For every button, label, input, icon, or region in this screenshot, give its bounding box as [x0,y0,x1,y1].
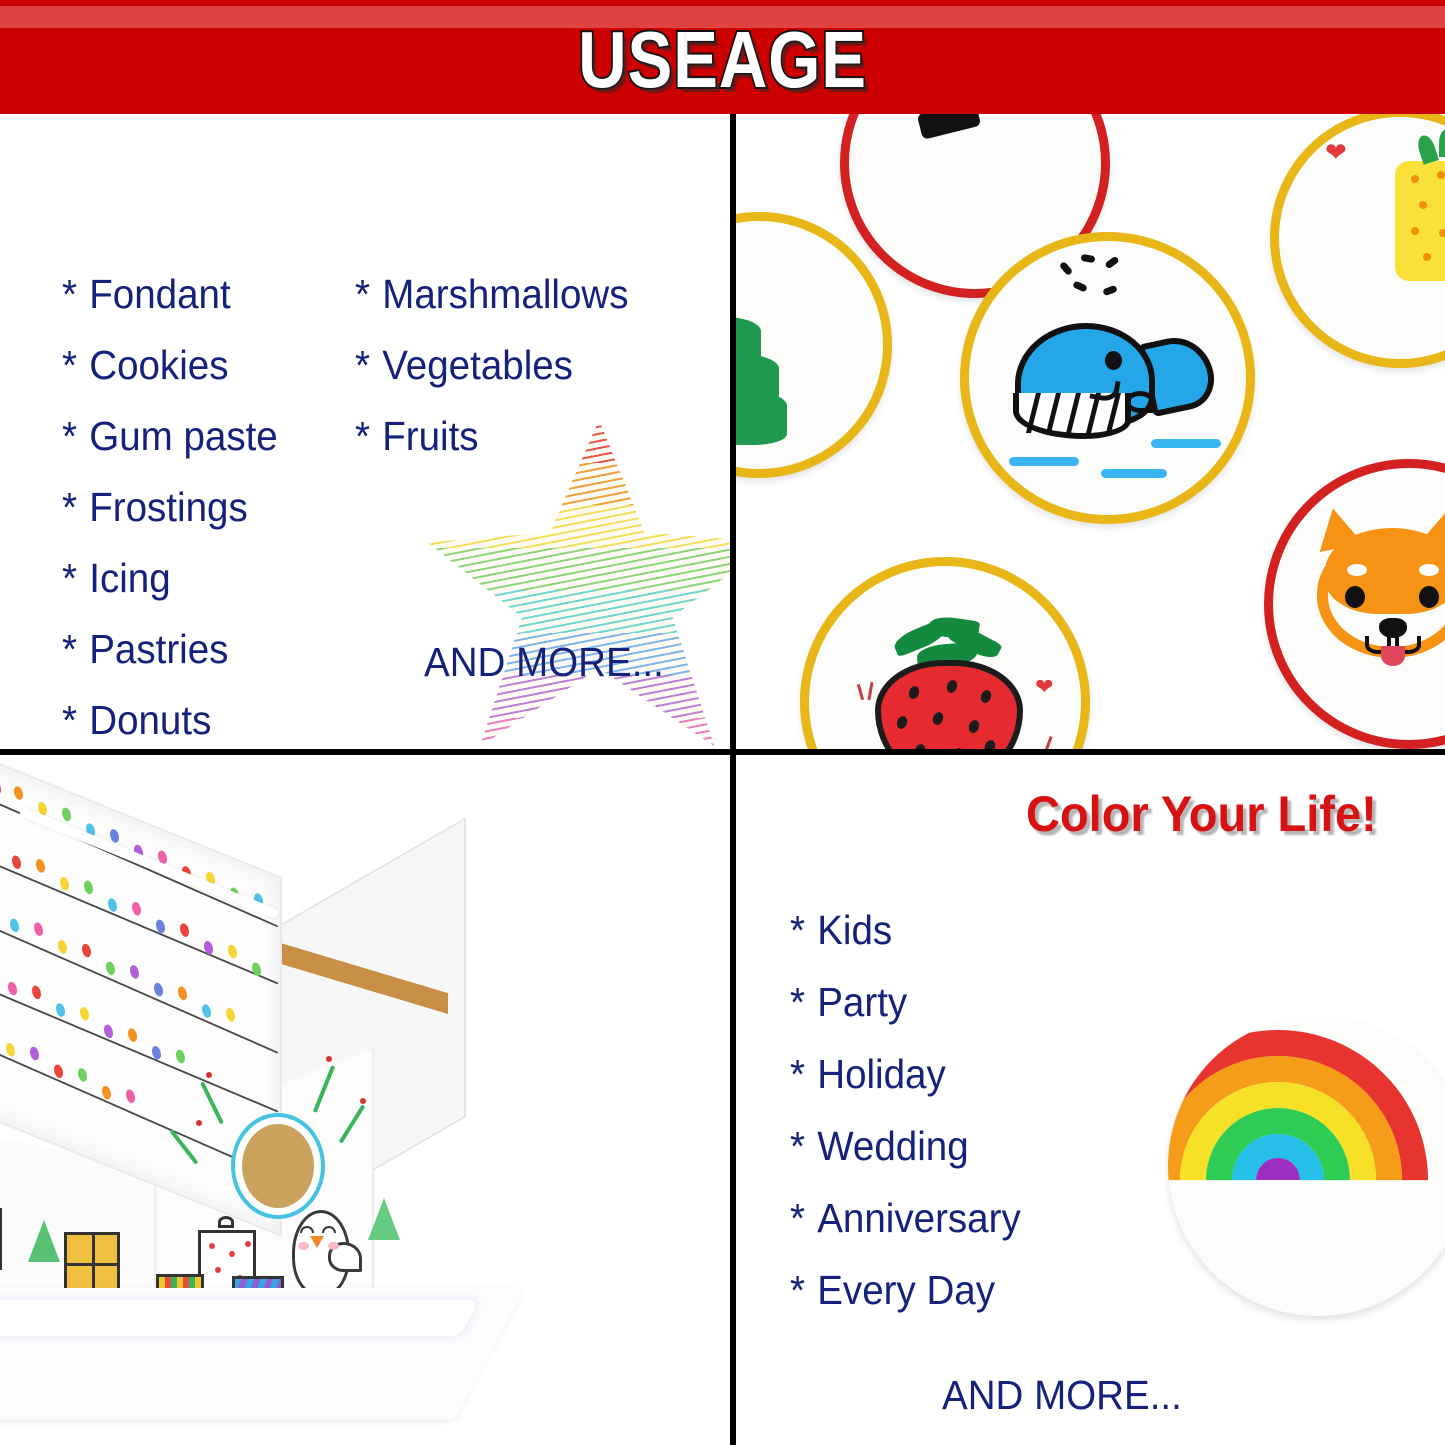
christmas-tree-cookie: ★ ★ ★ [736,212,892,478]
list-item: *Marshmallows [355,274,629,315]
list-item: *Donuts [62,700,278,741]
bullet-star-icon: * [355,271,370,317]
owl-eye-left [300,1226,314,1233]
list-item: *Holiday [790,1054,1021,1095]
dog-nose [1379,618,1407,638]
light-string-wire [0,920,278,1054]
strawberry-cookie: ❤ ❤ [800,557,1090,749]
bullet-star-icon: * [62,413,77,459]
and-more-text-life: AND MORE... [942,1372,1182,1419]
pineapple-leaf [1439,129,1445,157]
cookie-icing-surface: ❤ [1279,117,1445,359]
star-stripe-band [424,718,730,750]
list-item: *Icing [62,558,278,599]
water-wave [1151,439,1221,448]
window-left [0,1208,2,1270]
bullet-star-icon: * [790,907,805,953]
list-item: *Cookies [62,345,278,386]
bullet-star-icon: * [62,555,77,601]
bullet-star-icon: * [355,342,370,388]
product-infographic: USEAGE *Fondant *Cookies *Gum paste *Fro… [0,0,1445,1445]
partial-art-stroke [917,114,982,140]
pineapple-cookie: ❤ [1270,114,1445,368]
headline-color-your-life: Color Your Life! [1026,785,1377,843]
dog-tongue [1381,646,1405,666]
list-item: *Wedding [790,1126,1021,1167]
bullet-star-icon: * [62,626,77,672]
gingerbread-house-photo [0,780,590,1420]
water-wave [1101,469,1167,478]
panel-color-your-life: Color Your Life! *Kids *Party *Holiday *… [736,755,1445,1445]
shiba-dog-cookie: H [1264,459,1445,749]
cookie-icing-surface: H [1273,468,1445,740]
round-window [242,1124,314,1208]
mini-tree [368,1198,400,1240]
usage-list-column-1: *Fondant *Cookies *Gum paste *Frostings … [62,274,292,749]
bullet-star-icon: * [790,1195,805,1241]
owl-eye-right [322,1226,336,1233]
rainbow-cookie-photo [1168,1016,1445,1316]
pineapple-fruit-icon [1395,161,1445,281]
bullet-star-icon: * [62,697,77,743]
bullet-star-icon: * [790,979,805,1025]
panel-cookies-photo: ❤ ★ ★ ★ [736,114,1445,749]
whale-belly [1013,393,1131,439]
list-item: *Every Day [790,1270,1021,1311]
list-item: *Vegetables [355,345,629,386]
list-item: *Fondant [62,274,278,315]
cookie-icing-surface: ❤ ❤ [809,566,1081,749]
usage-list-column-2: *Marshmallows *Vegetables *Fruits [355,274,646,487]
snow-strip [0,1300,480,1336]
usage-list-life: *Kids *Party *Holiday *Wedding *Annivers… [790,910,1035,1342]
bullet-star-icon: * [355,413,370,459]
window-right [64,1232,120,1294]
cookie-icing-surface [969,241,1246,515]
bullet-star-icon: * [62,271,77,317]
star-stripe-band [424,548,730,591]
light-string-wire [0,857,278,985]
bullet-star-icon: * [62,342,77,388]
dog-eye-right [1419,586,1439,608]
heart-icon: ❤ [1035,676,1053,698]
mini-tree [28,1220,60,1262]
owl-beak [310,1236,324,1248]
list-item: *Frostings [62,487,278,528]
panel-color-your-food: *Fondant *Cookies *Gum paste *Frostings … [0,114,730,749]
list-item: *Kids [790,910,1021,951]
panel-gingerbread-house [0,755,730,1445]
bullet-star-icon: * [790,1051,805,1097]
list-item: *Fruits [355,416,629,457]
bullet-star-icon: * [790,1267,805,1313]
bullet-star-icon: * [62,484,77,530]
list-item: *Anniversary [790,1198,1021,1239]
star-stripe-band [424,505,730,548]
cookie-icing-surface: ★ ★ ★ [736,221,883,469]
whale-fin [1125,391,1155,413]
water-wave [1009,457,1079,466]
light-string-wire [0,983,278,1112]
list-item: *Gum paste [62,416,278,457]
whale-cookie [960,232,1255,524]
tree-tier-bottom [736,389,787,445]
bullet-star-icon: * [790,1123,805,1169]
list-item: *Party [790,982,1021,1023]
star-stripe-band [424,590,730,633]
page-title: USEAGE [116,14,1330,106]
strawberry-body [875,660,1023,749]
and-more-text-food: AND MORE... [424,639,664,686]
heart-icon: ❤ [1325,139,1347,165]
list-item: *Pastries [62,629,278,670]
whale-eye [1105,351,1122,370]
dog-eye-left [1345,586,1365,608]
header-banner: USEAGE [0,0,1445,114]
gift-bow [218,1216,234,1228]
